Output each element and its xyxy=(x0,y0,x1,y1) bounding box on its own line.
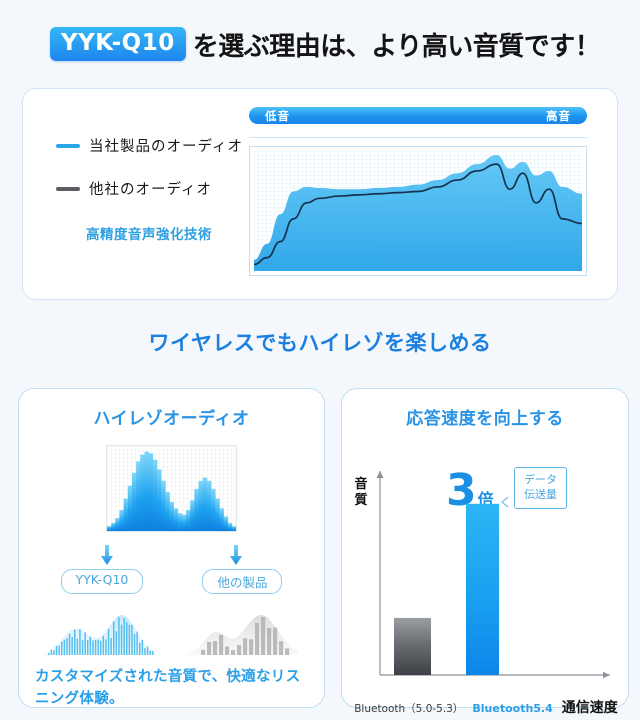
section-heading: ワイヤレスでもハイレゾを楽しめる xyxy=(0,327,640,357)
speed-panel-title: 応答速度を向上する xyxy=(342,404,628,429)
promo-page: YYK-Q10 を選ぶ理由は、より高い音質です！ 当社製品のオーディオ 他社のオ… xyxy=(0,0,640,720)
legend-item-our-audio: 当社製品のオーディオ xyxy=(56,135,256,156)
hires-spectrum-svg xyxy=(107,446,236,531)
arrow-row xyxy=(19,545,324,565)
tone-low-label: 低音 xyxy=(265,108,290,124)
technology-note: 高精度音声強化技術 xyxy=(86,223,256,243)
tone-high-label: 高音 xyxy=(546,108,571,124)
page-header: YYK-Q10 を選ぶ理由は、より高い音質です！ xyxy=(0,0,640,70)
pill-other-product[interactable]: 他の製品 xyxy=(202,569,282,594)
hires-audio-panel: ハイレゾオーディオ xyxy=(18,388,325,708)
frequency-chart xyxy=(249,146,587,276)
response-speed-panel: 応答速度を向上する 音質 3倍 データ 伝送量 xyxy=(341,388,629,708)
bar-chart-svg xyxy=(342,429,630,697)
yyk-q10-waveform-icon xyxy=(38,603,162,659)
frequency-response-panel: 当社製品のオーディオ 他社のオーディオ 高精度音声強化技術 低音 高音 xyxy=(22,88,618,300)
other-product-waveform-icon xyxy=(181,603,305,659)
tone-range-bar: 低音 高音 xyxy=(249,107,587,124)
pill-yyk-q10[interactable]: YYK-Q10 xyxy=(61,569,144,594)
x-axis-title: 通信速度 xyxy=(562,697,618,717)
down-arrow-left-icon xyxy=(99,545,115,565)
hires-panel-title: ハイレゾオーディオ xyxy=(19,404,324,429)
frequency-chart-svg xyxy=(254,151,582,271)
bar-bluetooth-legacy xyxy=(394,618,431,675)
product-pill-row: YYK-Q10 他の製品 xyxy=(19,569,324,594)
bar-chart-x-labels: Bluetooth（5.0-5.3） Bluetooth5.4 通信速度 xyxy=(342,697,630,717)
bar-bluetooth-54 xyxy=(466,504,499,675)
speed-chart: 音質 3倍 データ 伝送量 xyxy=(342,429,630,697)
product-badge: YYK-Q10 xyxy=(50,27,186,61)
line-swatch-gray-icon xyxy=(56,187,80,191)
page-title: を選ぶ理由は、より高い音質です！ xyxy=(193,26,600,63)
x-label-legacy: Bluetooth（5.0-5.3） xyxy=(354,701,463,716)
waveform-row xyxy=(19,603,324,659)
hires-caption: カスタマイズされた音質で、快適なリスニング体験。 xyxy=(35,667,308,711)
x-label-bt54: Bluetooth5.4 xyxy=(472,702,552,715)
legend-label: 当社製品のオーディオ xyxy=(89,135,243,156)
divider-rule xyxy=(249,137,587,138)
line-swatch-blue-icon xyxy=(56,144,80,148)
down-arrow-right-icon xyxy=(228,545,244,565)
hires-spectrum-chart xyxy=(106,445,237,532)
legend-item-other-audio: 他社のオーディオ xyxy=(56,178,256,199)
legend-label: 他社のオーディオ xyxy=(89,178,212,199)
chart-legend: 当社製品のオーディオ 他社のオーディオ 高精度音声強化技術 xyxy=(56,135,256,243)
